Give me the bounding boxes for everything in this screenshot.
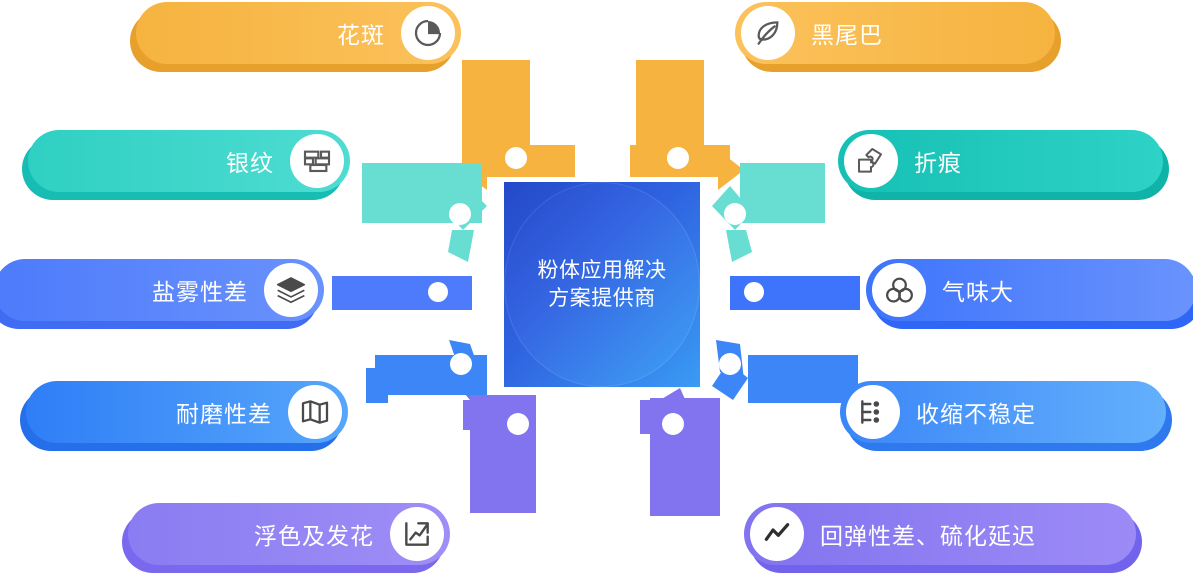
node-yanwuxingcha[interactable]: 盐雾性差: [0, 259, 324, 321]
connector-right-row5: [640, 388, 720, 516]
connector-left-row4: [366, 340, 487, 403]
node-yinwen[interactable]: 银纹: [28, 130, 350, 192]
node-label: 耐磨性差: [176, 395, 272, 429]
node-naimoxingcha[interactable]: 耐磨性差: [26, 381, 348, 443]
connector-left-row5: [463, 395, 536, 513]
sitemap-icon: [846, 385, 900, 439]
puzzle-icon: [844, 134, 898, 188]
connector-left-row3: [332, 276, 472, 310]
pie-chart-icon: [401, 6, 455, 60]
node-label: 银纹: [226, 144, 274, 178]
leaf-icon: [741, 6, 795, 60]
connector-left-row2: [362, 163, 487, 262]
node-shousuobuwending[interactable]: 收缩不稳定: [840, 381, 1166, 443]
connector-right-row4: [712, 340, 858, 403]
node-label: 花斑: [337, 16, 385, 50]
node-label: 浮色及发花: [254, 517, 374, 551]
layers-icon: [264, 263, 318, 317]
open-book-icon: [288, 385, 342, 439]
node-fusejifahua[interactable]: 浮色及发花: [128, 503, 450, 565]
node-label: 盐雾性差: [152, 273, 248, 307]
node-qiweida[interactable]: 气味大: [866, 259, 1193, 321]
connector-right-row3: [730, 276, 860, 310]
node-label: 折痕: [914, 144, 962, 178]
connector-right-row1: [630, 60, 744, 190]
node-zhehen[interactable]: 折痕: [838, 130, 1163, 192]
node-label: 气味大: [942, 273, 1014, 307]
line-chart-icon: [750, 507, 804, 561]
trend-up-icon: [390, 507, 444, 561]
node-heiweiba[interactable]: 黑尾巴: [735, 2, 1055, 64]
node-huaban[interactable]: 花斑: [136, 2, 461, 64]
center-title: 粉体应用解决 方案提供商: [504, 182, 700, 387]
node-label: 黑尾巴: [811, 16, 883, 50]
recycle-icon: [872, 263, 926, 317]
node-label: 收缩不稳定: [916, 395, 1036, 429]
diagram-canvas: 粉体应用解决 方案提供商 花斑 银纹: [0, 0, 1193, 577]
node-huitanxingcha-liuhuayanchi[interactable]: 回弹性差、硫化延迟: [744, 503, 1136, 565]
node-label: 回弹性差、硫化延迟: [820, 517, 1036, 551]
brick-wall-icon: [290, 134, 344, 188]
center-node[interactable]: 粉体应用解决 方案提供商: [504, 182, 700, 387]
